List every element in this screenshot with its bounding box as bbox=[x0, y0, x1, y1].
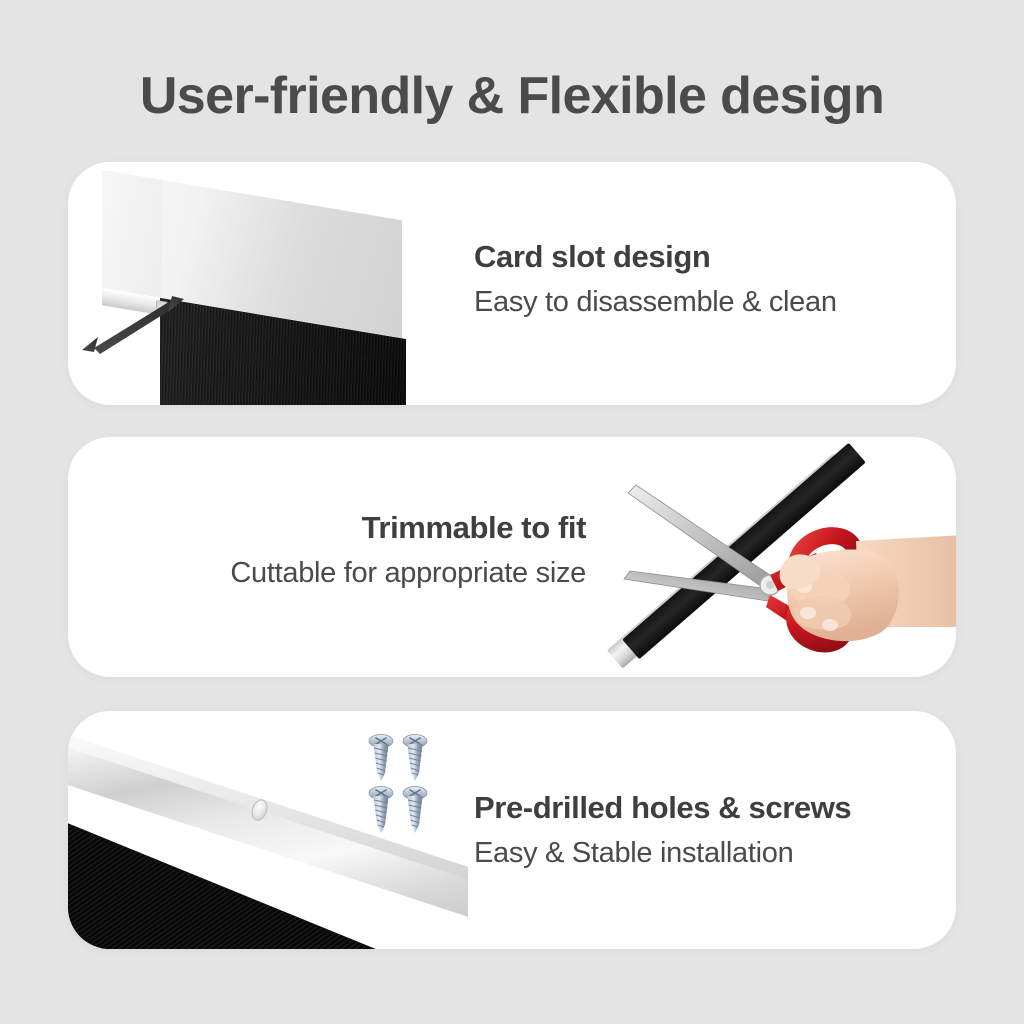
hand-holding-scissors bbox=[764, 515, 956, 665]
feature-card-pre-drilled-holes-and-screws: Pre-drilled holes & screws Easy & Stable… bbox=[68, 711, 956, 949]
screws-group bbox=[368, 733, 458, 843]
double-arrow-icon bbox=[76, 290, 186, 360]
door-sweep-holes-and-screws-illustration bbox=[68, 711, 468, 949]
door-sweep-card-slot-illustration bbox=[68, 162, 468, 405]
card-headline: Pre-drilled holes & screws bbox=[474, 789, 851, 827]
card-text-block: Pre-drilled holes & screws Easy & Stable… bbox=[474, 789, 851, 871]
card-subline: Easy to disassemble & clean bbox=[474, 284, 837, 320]
card-subline: Cuttable for appropriate size bbox=[86, 555, 586, 591]
card-text-block: Card slot design Easy to disassemble & c… bbox=[474, 238, 837, 320]
feature-card-trimmable-to-fit: Trimmable to fit Cuttable for appropriat… bbox=[68, 437, 956, 677]
card-subline: Easy & Stable installation bbox=[474, 835, 851, 871]
page-title: User-friendly & Flexible design bbox=[0, 66, 1024, 126]
screw-1 bbox=[369, 735, 393, 782]
screw-4 bbox=[403, 787, 427, 834]
card-headline: Trimmable to fit bbox=[86, 509, 586, 547]
card-text-block: Trimmable to fit Cuttable for appropriat… bbox=[86, 509, 586, 591]
card-headline: Card slot design bbox=[474, 238, 837, 276]
scissors-cutting-strip-photo bbox=[568, 437, 956, 677]
screw-2 bbox=[403, 735, 427, 782]
screw-3 bbox=[369, 787, 393, 834]
feature-card-card-slot-design: Card slot design Easy to disassemble & c… bbox=[68, 162, 956, 405]
